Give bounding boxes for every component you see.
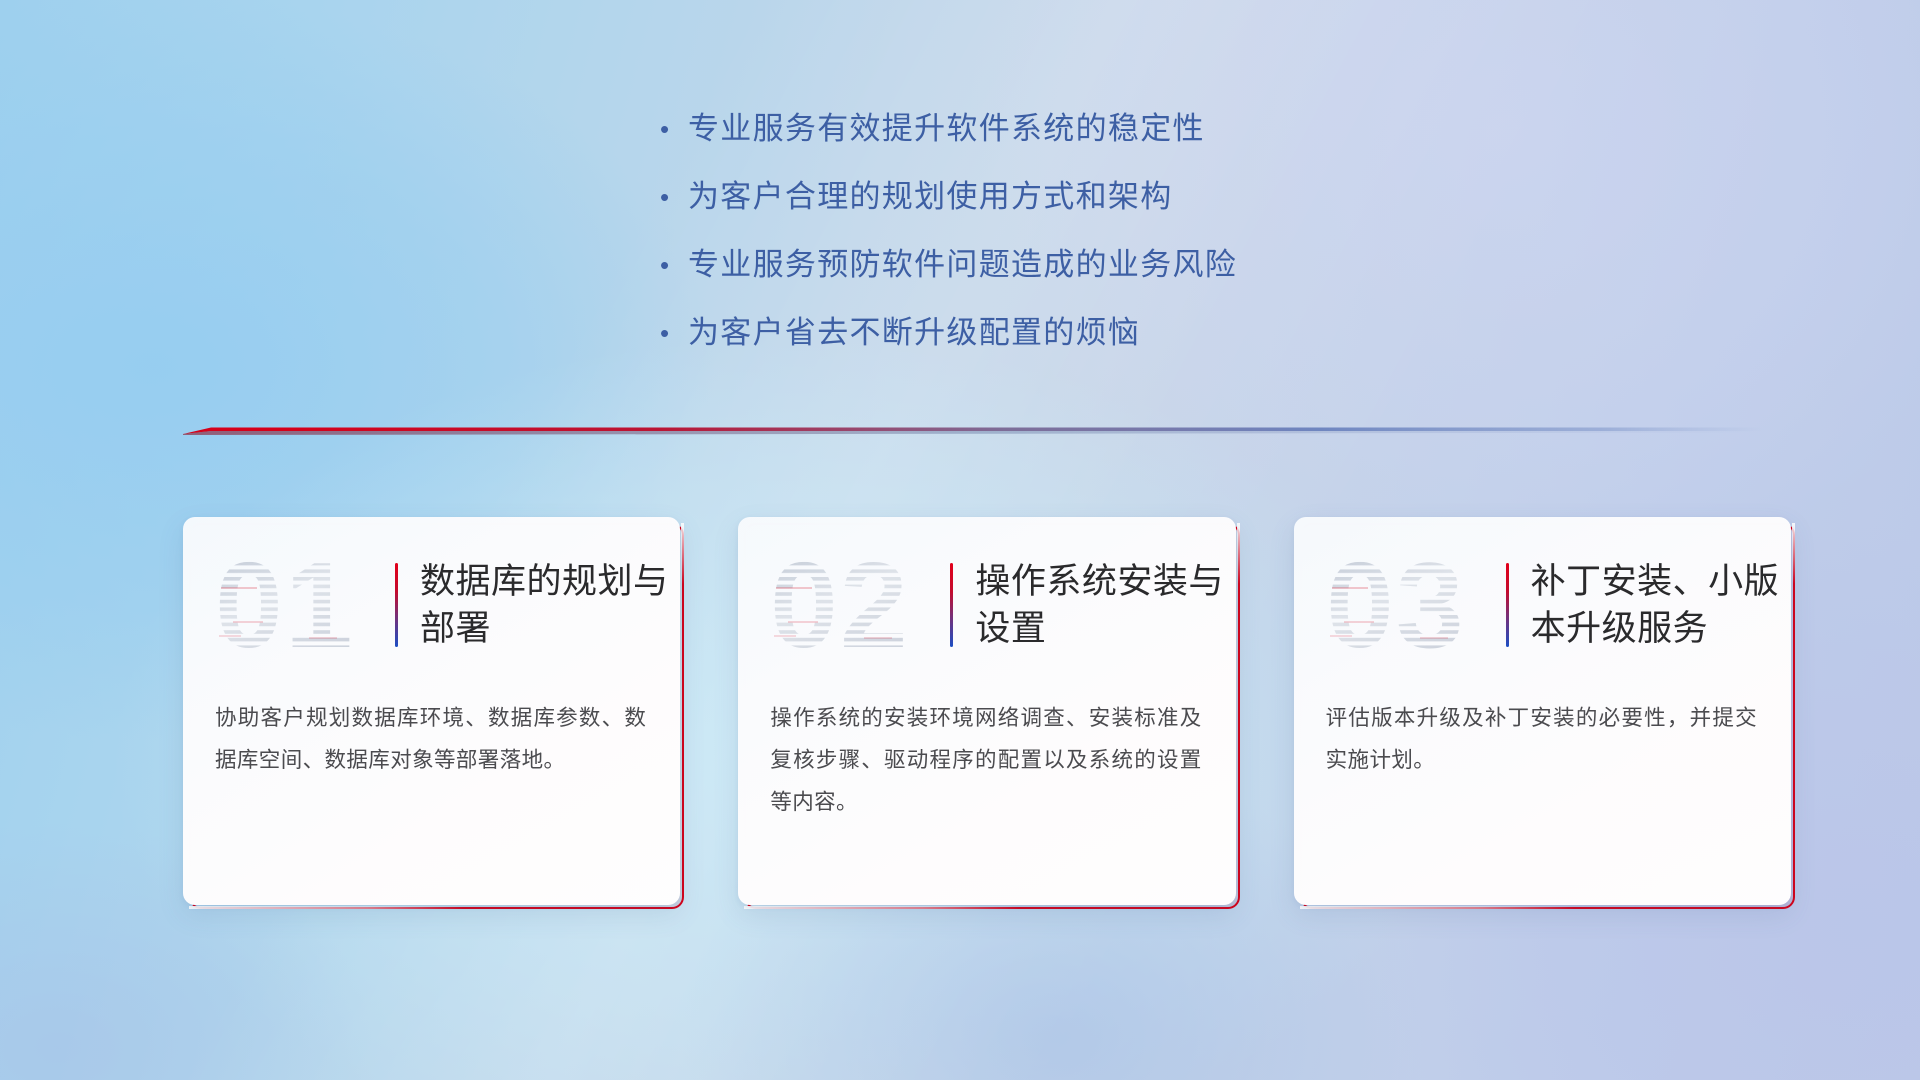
card-title-divider — [395, 563, 398, 647]
list-item: • 专业服务预防软件问题造成的业务风险 — [660, 246, 1480, 284]
svg-text:03: 03 — [1326, 539, 1466, 671]
card-header: 03 补丁安装、小版本升级服务 — [1294, 517, 1791, 693]
card-title: 操作系统安装与设置 — [975, 558, 1235, 652]
service-card-list: 01 数据库的规划与部署 协助客户规划数据库环境、 — [183, 517, 1791, 905]
card-number-watermark: 03 — [1324, 539, 1502, 671]
service-card[interactable]: 02 操作系统安装与设置 操作系统的安装环境网络调 — [738, 517, 1235, 905]
card-panel: 01 数据库的规划与部署 协助客户规划数据库环境、 — [183, 517, 680, 905]
bullet-dot-icon: • — [660, 314, 688, 352]
bullet-text: 专业服务预防软件问题造成的业务风险 — [688, 246, 1237, 284]
bullet-dot-icon: • — [660, 178, 688, 216]
card-title: 补丁安装、小版本升级服务 — [1531, 558, 1791, 652]
svg-text:02: 02 — [770, 539, 910, 671]
slide-root: • 专业服务有效提升软件系统的稳定性 • 为客户合理的规划使用方式和架构 • 专… — [0, 0, 1920, 1080]
list-item: • 为客户省去不断升级配置的烦恼 — [660, 314, 1480, 352]
card-header: 02 操作系统安装与设置 — [738, 517, 1235, 693]
card-panel: 02 操作系统安装与设置 操作系统的安装环境网络调 — [738, 517, 1235, 905]
svg-text:01: 01 — [215, 539, 355, 671]
service-card[interactable]: 03 补丁安装、小版本升级服务 评估版本升级及补丁 — [1294, 517, 1791, 905]
bullet-text: 专业服务有效提升软件系统的稳定性 — [688, 110, 1205, 148]
section-divider — [183, 420, 1763, 442]
list-item: • 为客户合理的规划使用方式和架构 — [660, 178, 1480, 216]
bullet-dot-icon: • — [660, 110, 688, 148]
card-number-watermark: 02 — [768, 539, 946, 671]
benefits-bullet-list: • 专业服务有效提升软件系统的稳定性 • 为客户合理的规划使用方式和架构 • 专… — [660, 110, 1480, 382]
bullet-dot-icon: • — [660, 246, 688, 284]
card-panel: 03 补丁安装、小版本升级服务 评估版本升级及补丁 — [1294, 517, 1791, 905]
service-card[interactable]: 01 数据库的规划与部署 协助客户规划数据库环境、 — [183, 517, 680, 905]
card-number-watermark: 01 — [213, 539, 391, 671]
card-title-divider — [950, 563, 953, 647]
card-title: 数据库的规划与部署 — [420, 558, 680, 652]
bullet-text: 为客户合理的规划使用方式和架构 — [688, 178, 1173, 216]
card-body-text: 协助客户规划数据库环境、数据库参数、数据库空间、数据库对象等部署落地。 — [183, 693, 680, 781]
card-body-text: 评估版本升级及补丁安装的必要性，并提交实施计划。 — [1294, 693, 1791, 781]
card-body-text: 操作系统的安装环境网络调查、安装标准及复核步骤、驱动程序的配置以及系统的设置等内… — [738, 693, 1235, 823]
card-title-divider — [1506, 563, 1509, 647]
list-item: • 专业服务有效提升软件系统的稳定性 — [660, 110, 1480, 148]
bullet-text: 为客户省去不断升级配置的烦恼 — [688, 314, 1140, 352]
card-header: 01 数据库的规划与部署 — [183, 517, 680, 693]
